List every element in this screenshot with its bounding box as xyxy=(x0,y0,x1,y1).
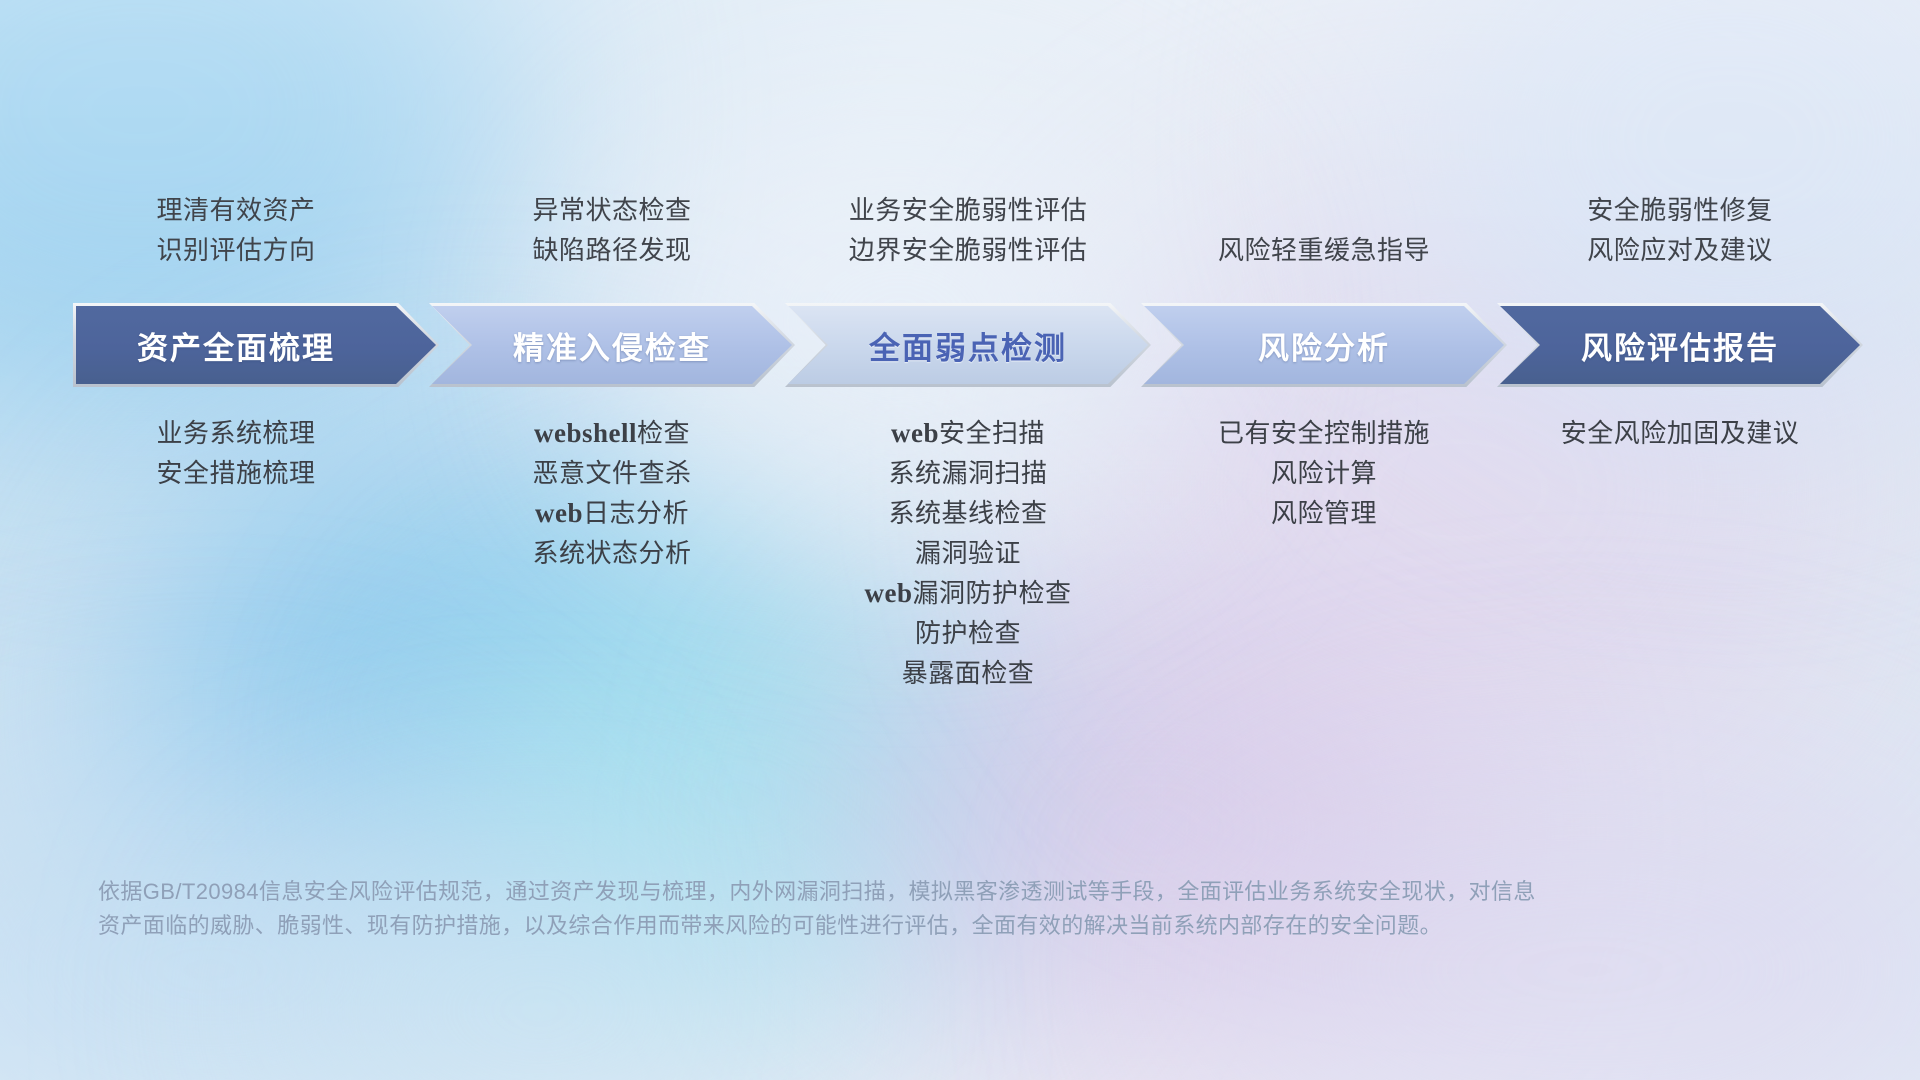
top-note-item: 安全脆弱性修复 xyxy=(1587,190,1773,230)
stage-chevron-asset-inventory[interactable]: 资产全面梳理 xyxy=(76,306,436,384)
top-note-item: 理清有效资产 xyxy=(156,190,315,230)
detail-item: webshell检查 xyxy=(534,413,690,453)
top-note-item: 缺陷路径发现 xyxy=(532,230,691,270)
footer-description: 依据GB/T20984信息安全风险评估规范，通过资产发现与梳理，内外网漏洞扫描，… xyxy=(98,875,1638,943)
top-note-item: 风险应对及建议 xyxy=(1587,230,1773,270)
detail-item: 系统漏洞扫描 xyxy=(888,453,1047,493)
top-note-column-risk-report: 安全脆弱性修复风险应对及建议 xyxy=(1587,190,1773,270)
slide-canvas: 理清有效资产识别评估方向异常状态检查缺陷路径发现业务安全脆弱性评估边界安全脆弱性… xyxy=(0,0,1920,1080)
stage-label-risk-analysis: 风险分析 xyxy=(1258,323,1390,368)
detail-item: 业务系统梳理 xyxy=(156,413,315,453)
top-note-item: 业务安全脆弱性评估 xyxy=(849,190,1088,230)
top-note-item: 异常状态检查 xyxy=(532,190,691,230)
detail-item: 风险管理 xyxy=(1271,493,1377,533)
top-note-item: 风险轻重缓急指导 xyxy=(1218,230,1430,270)
top-note-column-intrusion-check: 异常状态检查缺陷路径发现 xyxy=(532,190,691,270)
detail-item: 风险计算 xyxy=(1271,453,1377,493)
emphasis-latin: webshell xyxy=(534,418,637,448)
detail-item: 恶意文件查杀 xyxy=(532,453,691,493)
detail-item: web安全扫描 xyxy=(891,413,1045,453)
stage-label-intrusion-check: 精准入侵检查 xyxy=(513,323,711,368)
detail-item: 安全措施梳理 xyxy=(156,453,315,493)
detail-item: 防护检查 xyxy=(915,613,1021,653)
detail-item: web日志分析 xyxy=(535,493,689,533)
detail-column-weakness-detection: web安全扫描系统漏洞扫描系统基线检查漏洞验证web漏洞防护检查防护检查暴露面检… xyxy=(864,413,1071,693)
process-chevron-banner: 资产全面梳理精准入侵检查全面弱点检测风险分析风险评估报告 xyxy=(76,306,1836,384)
stage-chevron-risk-report[interactable]: 风险评估报告 xyxy=(1500,306,1860,384)
stage-chevron-risk-analysis[interactable]: 风险分析 xyxy=(1144,306,1504,384)
detail-item: 安全风险加固及建议 xyxy=(1561,413,1800,453)
stage-label-risk-report: 风险评估报告 xyxy=(1581,323,1779,368)
emphasis-cjk: 漏洞防护检查 xyxy=(912,578,1071,608)
stage-chevron-weakness-detection[interactable]: 全面弱点检测 xyxy=(788,306,1148,384)
footer-line-1: 依据GB/T20984信息安全风险评估规范，通过资产发现与梳理，内外网漏洞扫描，… xyxy=(98,875,1638,909)
emphasis-latin: web xyxy=(891,418,939,448)
emphasis-cjk: 安全扫描 xyxy=(939,418,1045,448)
detail-column-asset-inventory: 业务系统梳理安全措施梳理 xyxy=(156,413,315,493)
top-note-item: 边界安全脆弱性评估 xyxy=(849,230,1088,270)
emphasis-latin: web xyxy=(864,578,912,608)
detail-column-intrusion-check: webshell检查恶意文件查杀web日志分析系统状态分析 xyxy=(532,413,691,573)
emphasis-latin: web xyxy=(535,498,583,528)
detail-item: 暴露面检查 xyxy=(902,653,1035,693)
detail-column-risk-report: 安全风险加固及建议 xyxy=(1561,413,1800,453)
emphasis-cjk: 检查 xyxy=(637,418,690,448)
detail-item: web漏洞防护检查 xyxy=(864,573,1071,613)
top-note-column-risk-analysis: 风险轻重缓急指导 xyxy=(1218,230,1430,270)
top-note-column-weakness-detection: 业务安全脆弱性评估边界安全脆弱性评估 xyxy=(849,190,1088,270)
top-note-column-asset-inventory: 理清有效资产识别评估方向 xyxy=(156,190,315,270)
detail-item: 漏洞验证 xyxy=(915,533,1021,573)
stage-label-asset-inventory: 资产全面梳理 xyxy=(137,323,335,368)
detail-item: 系统基线检查 xyxy=(888,493,1047,533)
stage-label-weakness-detection: 全面弱点检测 xyxy=(869,323,1067,368)
detail-column-risk-analysis: 已有安全控制措施风险计算风险管理 xyxy=(1218,413,1430,533)
emphasis-cjk: 日志分析 xyxy=(583,498,689,528)
footer-line-2: 资产面临的威胁、脆弱性、现有防护措施，以及综合作用而带来风险的可能性进行评估，全… xyxy=(98,909,1638,943)
detail-item: 已有安全控制措施 xyxy=(1218,413,1430,453)
detail-item: 系统状态分析 xyxy=(532,533,691,573)
stage-chevron-intrusion-check[interactable]: 精准入侵检查 xyxy=(432,306,792,384)
top-note-item: 识别评估方向 xyxy=(156,230,315,270)
